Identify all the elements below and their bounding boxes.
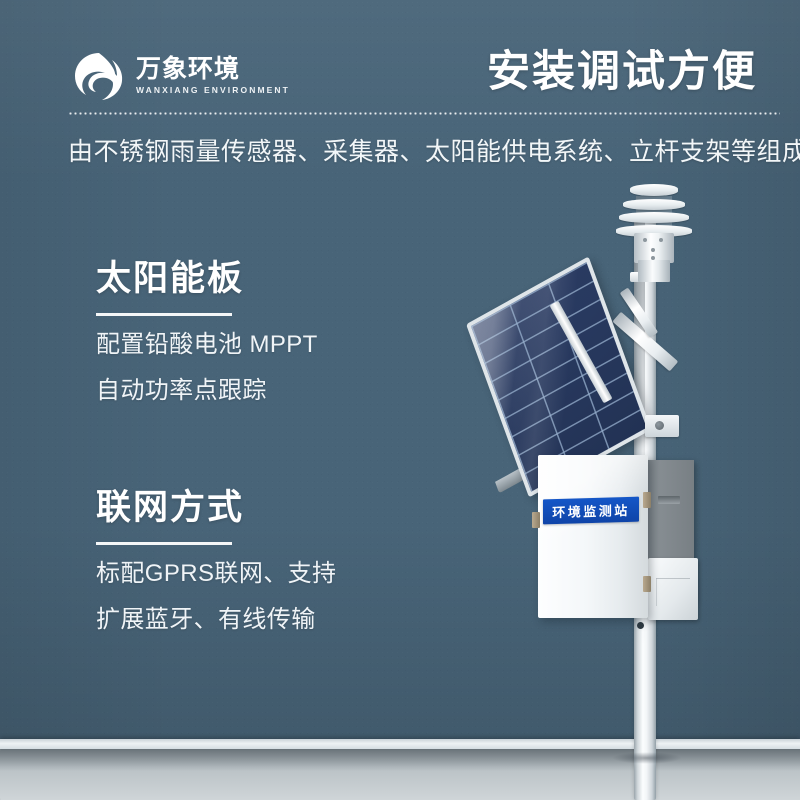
cabinet-label-plate: 环境监测站 bbox=[543, 497, 639, 525]
control-cabinet-door bbox=[538, 455, 648, 618]
pole-hole bbox=[637, 622, 644, 629]
sensor-disc bbox=[619, 212, 689, 223]
sensor-disc bbox=[623, 199, 685, 210]
sensor-port bbox=[643, 238, 647, 242]
bracket-bolt bbox=[655, 421, 664, 430]
pole-base-shadow bbox=[612, 752, 682, 764]
vent-grille bbox=[656, 578, 690, 606]
cabinet-latch bbox=[532, 512, 540, 528]
sensor-port bbox=[651, 248, 655, 252]
cabinet-label-text: 环境监测站 bbox=[552, 500, 630, 521]
cabinet-hinge bbox=[643, 576, 651, 592]
sensor-port bbox=[659, 238, 663, 242]
product-poster: 万象环境 WANXIANG ENVIRONMENT 安装调试方便 由不锈钢雨量传… bbox=[0, 0, 800, 800]
rain-gauge-sensor-icon bbox=[612, 184, 696, 280]
cabinet-hinge bbox=[643, 492, 651, 508]
cabinet-gloss bbox=[538, 455, 648, 618]
sensor-body bbox=[634, 233, 674, 263]
weather-station-assembly: 环境监测站 bbox=[0, 0, 800, 800]
sensor-disc bbox=[630, 184, 678, 196]
cabinet-vent-box bbox=[648, 558, 698, 620]
sensor-neck bbox=[638, 260, 670, 282]
cabinet-interior-slot bbox=[658, 496, 680, 504]
